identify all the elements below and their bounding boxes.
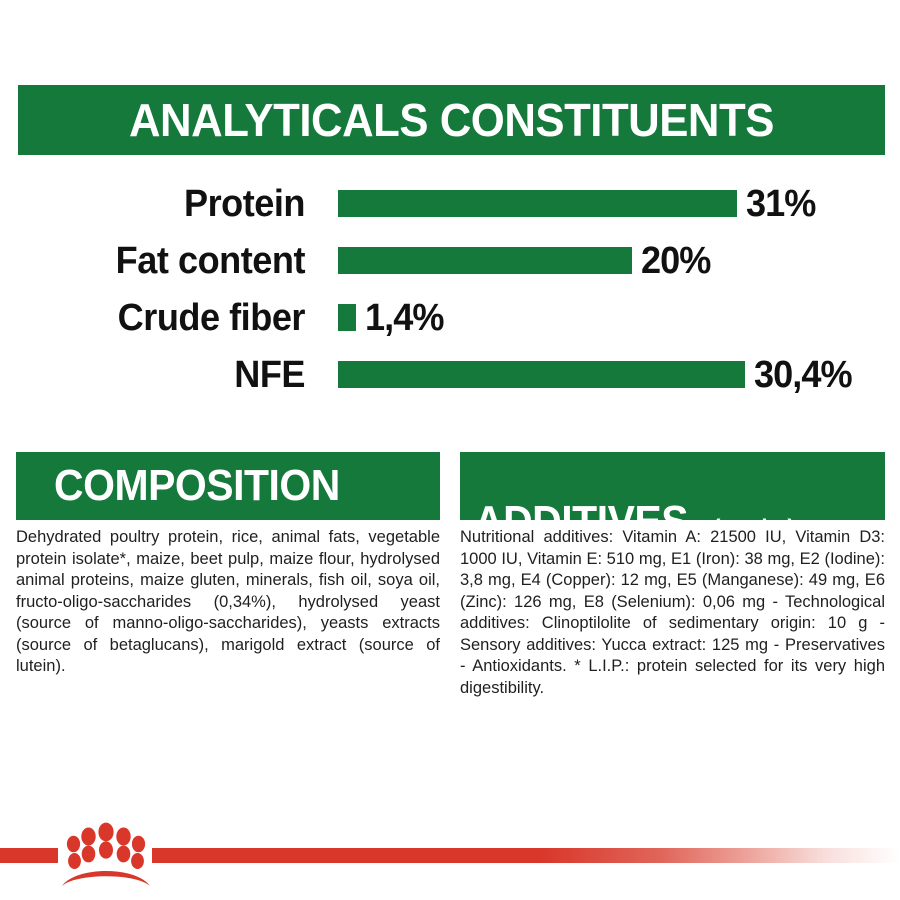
bar-label-protein: Protein (15, 185, 305, 223)
bar-label-fat-content: Fat content (15, 242, 305, 280)
bar-value-fat-content: 20% (641, 242, 710, 280)
bar-value-nfe: 30,4% (754, 356, 852, 394)
bar-track-fat-content: 20% (338, 247, 714, 274)
bar-label-crude-fiber: Crude fiber (15, 299, 305, 337)
analytical-constituents-chart: Protein 31% Fat content 20% Crude fiber … (0, 175, 900, 403)
bar-track-crude-fiber: 1,4% (338, 304, 448, 331)
bar-fill-crude-fiber (338, 304, 356, 331)
royal-canin-crown-logo (58, 818, 154, 890)
bar-value-crude-fiber: 1,4% (365, 299, 443, 337)
bar-fill-nfe (338, 361, 745, 388)
bar-fill-protein (338, 190, 737, 217)
additives-body-text: Nutritional additives: Vitamin A: 21500 … (460, 527, 885, 699)
composition-heading: COMPOSITION (54, 464, 340, 508)
nutrition-panel: ANALYTICALS CONSTITUENTS Protein 31% Fat… (0, 0, 900, 900)
composition-banner: COMPOSITION (16, 452, 440, 520)
footer-bar (0, 836, 900, 870)
chart-row-protein: Protein 31% (0, 175, 900, 232)
bar-label-nfe: NFE (15, 356, 305, 394)
chart-row-fat-content: Fat content 20% (0, 232, 900, 289)
additives-banner: ADDITIVES (per kg) (460, 452, 885, 520)
page-title: ANALYTICALS CONSTITUENTS (129, 97, 774, 143)
footer-rule-left (0, 848, 58, 863)
bar-fill-fat-content (338, 247, 632, 274)
analytical-constituents-banner: ANALYTICALS CONSTITUENTS (18, 85, 885, 155)
bar-value-protein: 31% (746, 185, 815, 223)
footer-rule-right (152, 848, 900, 863)
bar-track-nfe: 30,4% (338, 361, 857, 388)
chart-row-nfe: NFE 30,4% (0, 346, 900, 403)
bar-track-protein: 31% (338, 190, 819, 217)
chart-row-crude-fiber: Crude fiber 1,4% (0, 289, 900, 346)
composition-body-text: Dehydrated poultry protein, rice, animal… (16, 527, 440, 678)
